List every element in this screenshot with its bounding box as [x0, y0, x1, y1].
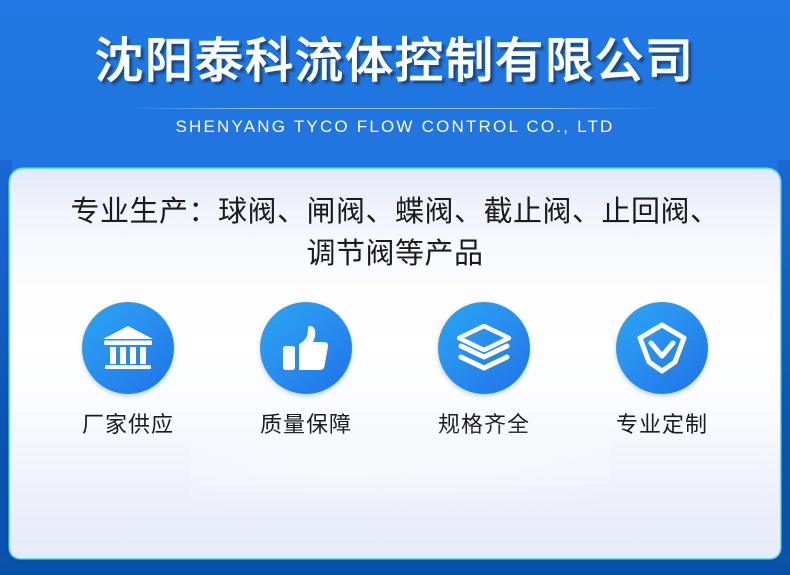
- feature-item-customization[interactable]: 专业定制: [615, 302, 710, 439]
- feature-label: 厂家供应: [82, 407, 174, 439]
- feature-item-manufacturer[interactable]: 厂家供应: [81, 302, 176, 439]
- thumbs-up-icon: [280, 322, 332, 374]
- pentagon-chevron-icon: [635, 321, 689, 375]
- feature-icon-badge: [82, 302, 174, 394]
- feature-list: 厂家供应 质量保障: [10, 302, 780, 439]
- company-name-cn: 沈阳泰科流体控制有限公司: [0, 32, 790, 92]
- feature-item-quality[interactable]: 质量保障: [259, 302, 354, 439]
- feature-label: 规格齐全: [438, 407, 530, 439]
- feature-label: 质量保障: [260, 407, 352, 439]
- product-headline-line-2: 调节阀等产品: [10, 233, 780, 275]
- product-headline-line-1: 专业生产：球阀、闸阀、蝶阀、截止阀、止回阀、: [10, 191, 780, 233]
- feature-icon-badge: [616, 302, 708, 394]
- banner-header: 沈阳泰科流体控制有限公司 SHENYANG TYCO FLOW CONTROL …: [0, 0, 790, 169]
- content-card: 专业生产：球阀、闸阀、蝶阀、截止阀、止回阀、 调节阀等产品: [10, 169, 780, 558]
- frame-band-bottom: [0, 556, 790, 575]
- feature-label: 专业定制: [616, 407, 708, 439]
- header-divider: [130, 108, 660, 109]
- company-name-en: SHENYANG TYCO FLOW CONTROL CO., LTD: [0, 117, 790, 137]
- bank-building-icon: [101, 323, 155, 373]
- promo-banner: 沈阳泰科流体控制有限公司 SHENYANG TYCO FLOW CONTROL …: [0, 0, 790, 575]
- product-headline: 专业生产：球阀、闸阀、蝶阀、截止阀、止回阀、 调节阀等产品: [10, 191, 780, 275]
- feature-icon-badge: [438, 302, 530, 394]
- feature-item-specifications[interactable]: 规格齐全: [437, 302, 532, 439]
- layers-stack-icon: [457, 324, 511, 372]
- feature-icon-badge: [260, 302, 352, 394]
